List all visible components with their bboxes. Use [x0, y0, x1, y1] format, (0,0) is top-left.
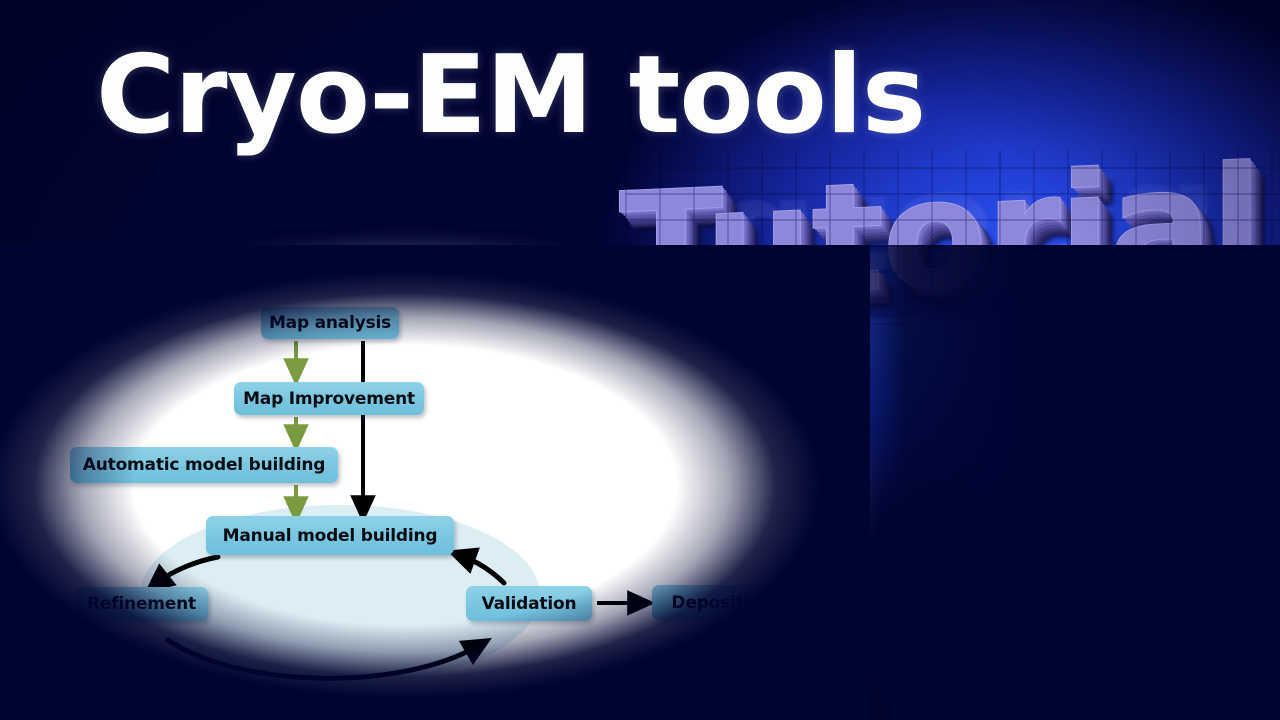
arrow-validation-to-manual-model	[462, 556, 504, 583]
node-manual-model-building[interactable]: Manual model building	[206, 516, 454, 555]
node-refinement[interactable]: Refinement	[75, 587, 208, 621]
node-automatic-model-building[interactable]: Automatic model building	[70, 447, 338, 483]
node-manual-model-building-label: Manual model building	[223, 526, 438, 546]
node-validation[interactable]: Validation	[466, 586, 592, 621]
node-validation-label: Validation	[482, 594, 577, 614]
page-title: Cryo-EM tools	[96, 30, 925, 162]
arrow-refinement-to-validation	[168, 640, 478, 678]
node-map-analysis[interactable]: Map analysis	[261, 307, 399, 339]
node-map-improvement[interactable]: Map Improvement	[234, 382, 424, 415]
slide-canvas: Tutorial Tutorial Cryo-EM tools	[0, 0, 1280, 720]
node-map-improvement-label: Map Improvement	[243, 389, 415, 409]
workflow-diagram: Map analysis Map Improvement Automatic m…	[0, 265, 860, 720]
node-automatic-model-building-label: Automatic model building	[83, 455, 325, 475]
node-deposition-label: Deposition	[671, 593, 772, 613]
node-deposition[interactable]: Deposition	[652, 585, 792, 620]
diagram-arrows	[0, 265, 860, 720]
node-map-analysis-label: Map analysis	[269, 313, 391, 333]
node-refinement-label: Refinement	[87, 594, 196, 614]
arrow-manual-model-to-refinement	[157, 557, 218, 583]
